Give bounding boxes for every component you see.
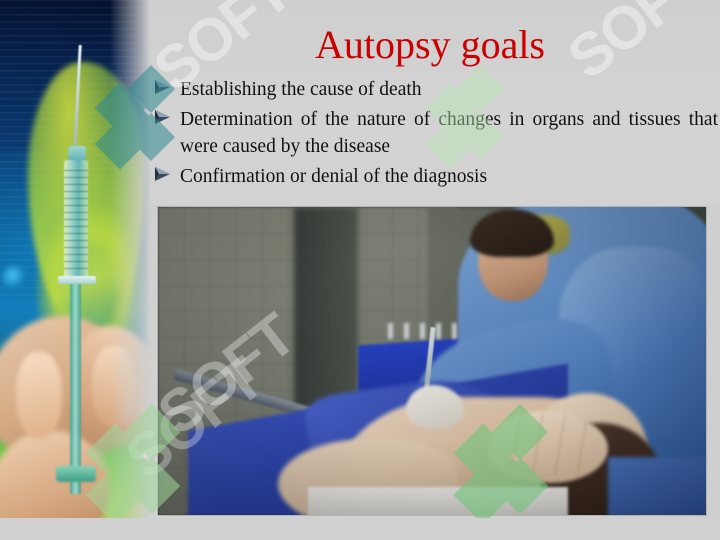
- list-item-label: Establishing the cause of death: [180, 79, 422, 100]
- syringe-flange: [58, 276, 96, 284]
- presentation-slide: Autopsy goals Establishing the cause of …: [0, 0, 720, 540]
- syringe-plunger: [70, 284, 81, 494]
- band-light-dot: [2, 265, 28, 291]
- list-item: Confirmation or denial of the diagnosis: [152, 163, 718, 190]
- list-item: Determination of the nature of changes i…: [152, 106, 718, 160]
- band-right-fade: [110, 0, 150, 540]
- slide-title: Autopsy goals: [150, 22, 710, 68]
- syringe-plunger-cap: [56, 466, 96, 482]
- list-item-label: Determination of the nature of changes i…: [180, 109, 718, 157]
- bullet-list: Establishing the cause of death Determin…: [152, 76, 718, 193]
- slide-bottom-strip: [0, 518, 720, 540]
- syringe-graduations: [64, 170, 88, 270]
- list-item-label: Confirmation or denial of the diagnosis: [180, 166, 487, 187]
- left-decorative-band: [0, 0, 150, 540]
- arrowhead-bullet-icon: [154, 107, 172, 127]
- band-finger-a: [16, 352, 62, 438]
- arrowhead-bullet-icon: [154, 77, 172, 97]
- photo-vignette: [158, 207, 706, 515]
- arrowhead-bullet-icon: [154, 164, 172, 184]
- list-item: Establishing the cause of death: [152, 76, 718, 103]
- autopsy-photograph: [158, 207, 706, 515]
